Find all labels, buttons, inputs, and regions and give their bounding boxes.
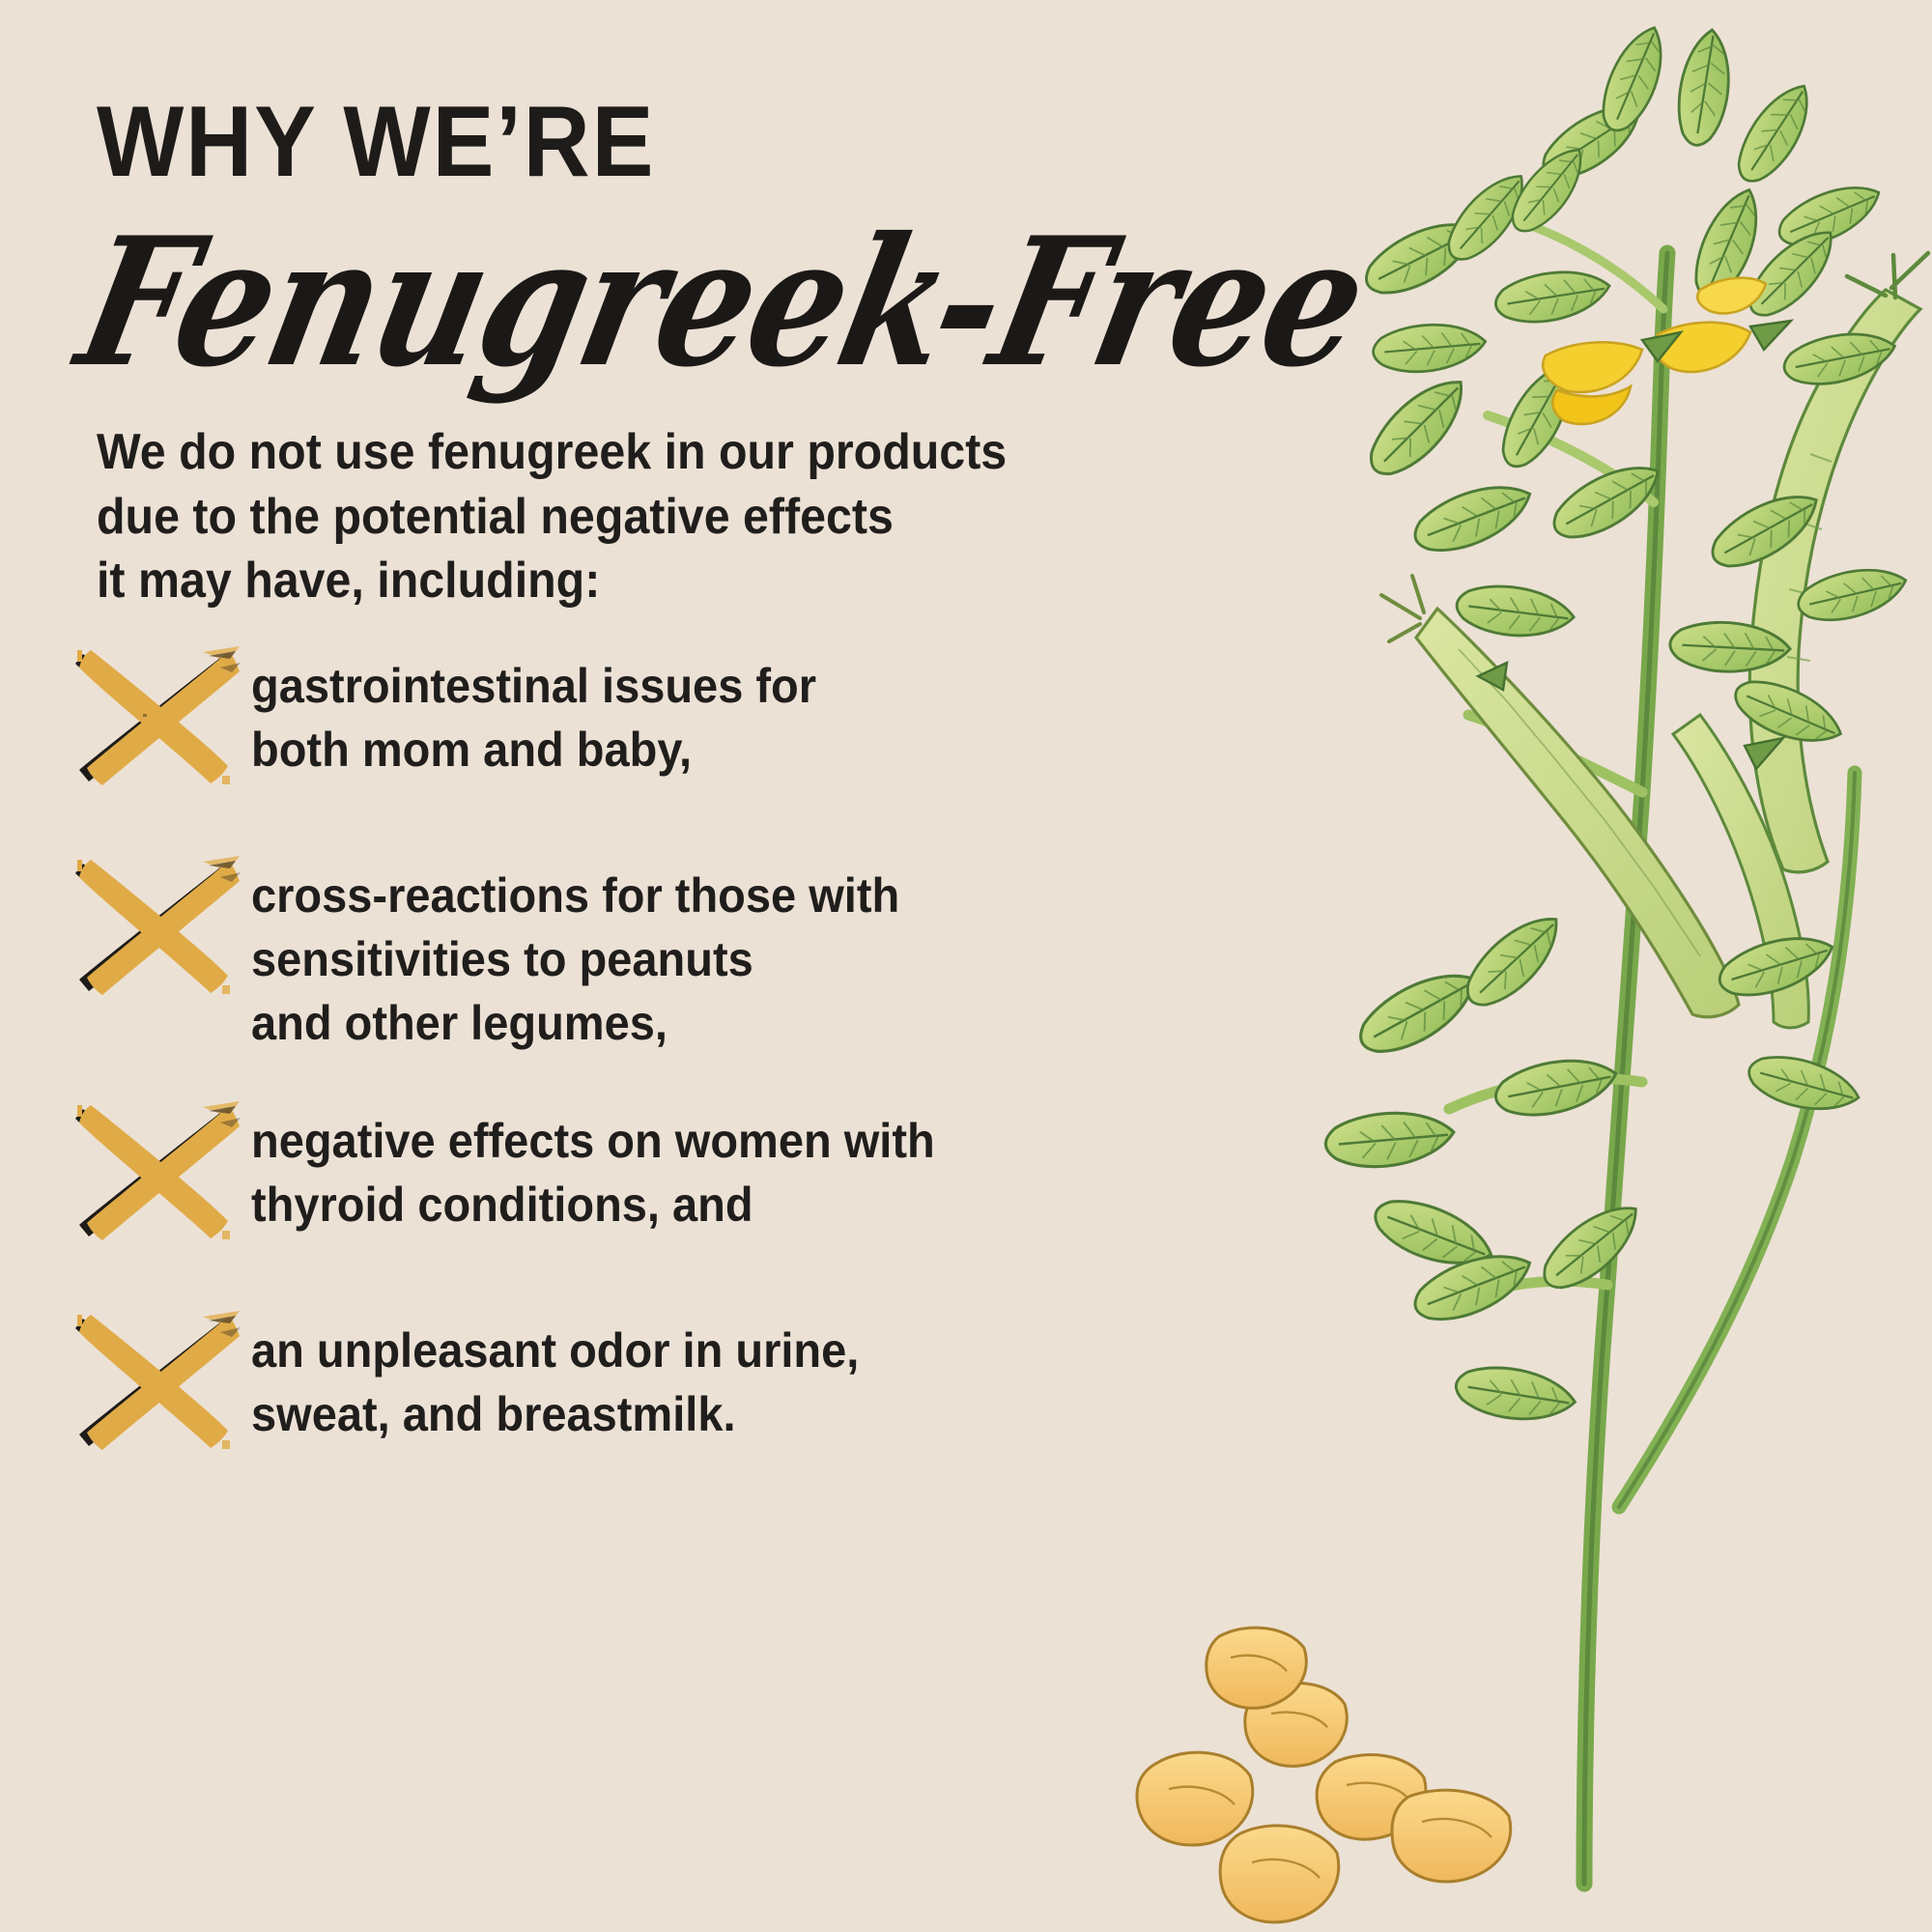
list-item-line-2: sweat, and breastmilk. [251, 1382, 859, 1446]
x-mark-icon [58, 633, 241, 792]
list-item-text: negative effects on women with thyroid c… [251, 1088, 935, 1236]
list-item-text: cross-reactions for those with sensitivi… [251, 842, 899, 1055]
list-item-line-2: thyroid conditions, and [251, 1173, 935, 1236]
list-item: negative effects on women with thyroid c… [58, 1088, 1024, 1247]
list-item: cross-reactions for those with sensitivi… [58, 842, 1024, 1055]
x-mark-icon [58, 1297, 241, 1457]
intro-line-3: it may have, including: [97, 549, 995, 613]
list-item: gastrointestinal issues for both mom and… [58, 633, 1024, 792]
reasons-list: gastrointestinal issues for both mom and… [58, 633, 1024, 1503]
list-item-text: gastrointestinal issues for both mom and… [251, 633, 816, 781]
list-item-line-2: both mom and baby, [251, 718, 816, 781]
intro-paragraph: We do not use fenugreek in our products … [97, 420, 995, 613]
list-item-line-2: sensitivities to peanuts [251, 927, 899, 991]
infographic-canvas: WHY WE’RE Fenugreek-Free We do not use f… [0, 0, 1932, 1932]
page-title-script: Fenugreek-Free [67, 214, 1378, 391]
list-item: an unpleasant odor in urine, sweat, and … [58, 1297, 1024, 1457]
list-item-line-3: and other legumes, [251, 991, 899, 1055]
list-item-text: an unpleasant odor in urine, sweat, and … [251, 1297, 859, 1446]
x-mark-icon [58, 842, 241, 1002]
list-item-line-1: gastrointestinal issues for [251, 654, 816, 718]
page-kicker-headline: WHY WE’RE [97, 92, 655, 192]
list-item-line-1: cross-reactions for those with [251, 864, 899, 927]
list-item-line-1: an unpleasant odor in urine, [251, 1319, 859, 1382]
intro-line-2: due to the potential negative effects [97, 485, 995, 550]
intro-line-1: We do not use fenugreek in our products [97, 420, 995, 485]
x-mark-icon [58, 1088, 241, 1247]
list-item-line-1: negative effects on women with [251, 1109, 935, 1173]
